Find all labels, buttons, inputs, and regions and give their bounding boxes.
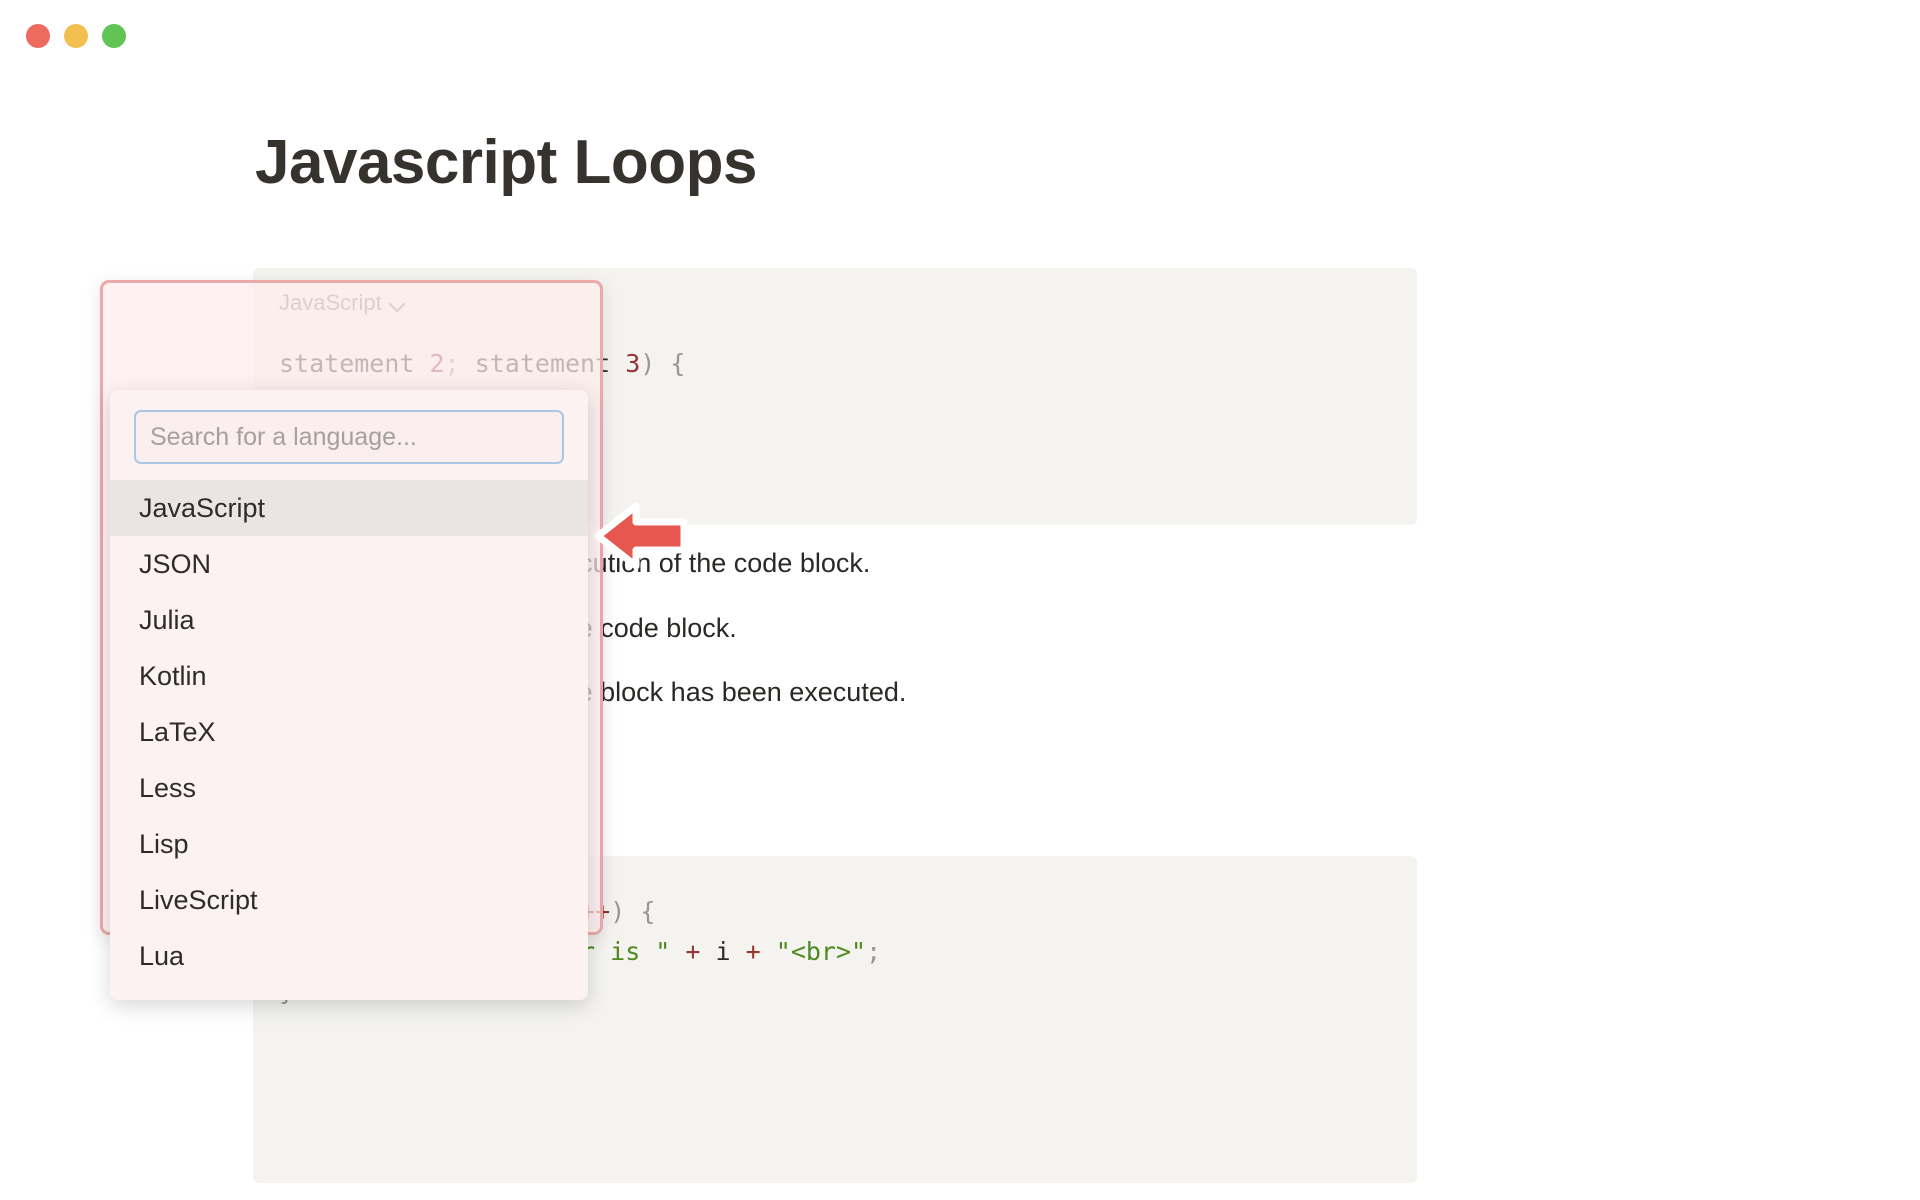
language-option-label: JavaScript [139, 493, 265, 524]
language-option-lua[interactable]: Lua [110, 928, 588, 984]
language-option-label: JSON [139, 549, 211, 580]
language-option-label: Kotlin [139, 661, 207, 692]
code-token: + [746, 937, 761, 966]
language-option-kotlin[interactable]: Kotlin [110, 648, 588, 704]
code-token: { [655, 349, 685, 378]
code-token: ; [866, 937, 881, 966]
code-token [670, 937, 685, 966]
language-option-list: JavaScriptJSONJuliaKotlinLaTeXLessLispLi… [110, 480, 588, 984]
left-arrow-annotation-icon [592, 500, 690, 572]
code-token: ) [640, 349, 655, 378]
language-option-javascript[interactable]: JavaScript [110, 480, 588, 536]
page-title: Javascript Loops [255, 127, 757, 198]
language-option-less[interactable]: Less [110, 760, 588, 816]
maximize-window-button[interactable] [102, 24, 126, 48]
language-option-json[interactable]: JSON [110, 536, 588, 592]
code-token: 3 [625, 349, 640, 378]
language-option-label: LaTeX [139, 717, 216, 748]
code-token: i [700, 937, 745, 966]
document-body: Javascript Loops JavaScript statement 2;… [0, 72, 1920, 1200]
language-option-julia[interactable]: Julia [110, 592, 588, 648]
code-token: ) { [610, 897, 655, 926]
language-option-label: Lisp [139, 829, 189, 860]
language-dropdown-panel[interactable]: JavaScriptJSONJuliaKotlinLaTeXLessLispLi… [110, 390, 588, 1000]
language-option-label: Julia [139, 605, 195, 636]
language-option-livescript[interactable]: LiveScript [110, 872, 588, 928]
window-titlebar [0, 0, 1920, 72]
language-option-lisp[interactable]: Lisp [110, 816, 588, 872]
language-search-input[interactable] [134, 410, 564, 464]
code-token: "<br>" [776, 937, 866, 966]
close-window-button[interactable] [26, 24, 50, 48]
language-option-label: LiveScript [139, 885, 258, 916]
language-option-latex[interactable]: LaTeX [110, 704, 588, 760]
language-option-label: Lua [139, 941, 184, 972]
minimize-window-button[interactable] [64, 24, 88, 48]
language-option-label: Less [139, 773, 196, 804]
language-search-wrapper [110, 390, 588, 480]
code-token [761, 937, 776, 966]
code-token: + [685, 937, 700, 966]
app-window: Javascript Loops JavaScript statement 2;… [0, 0, 1920, 1200]
